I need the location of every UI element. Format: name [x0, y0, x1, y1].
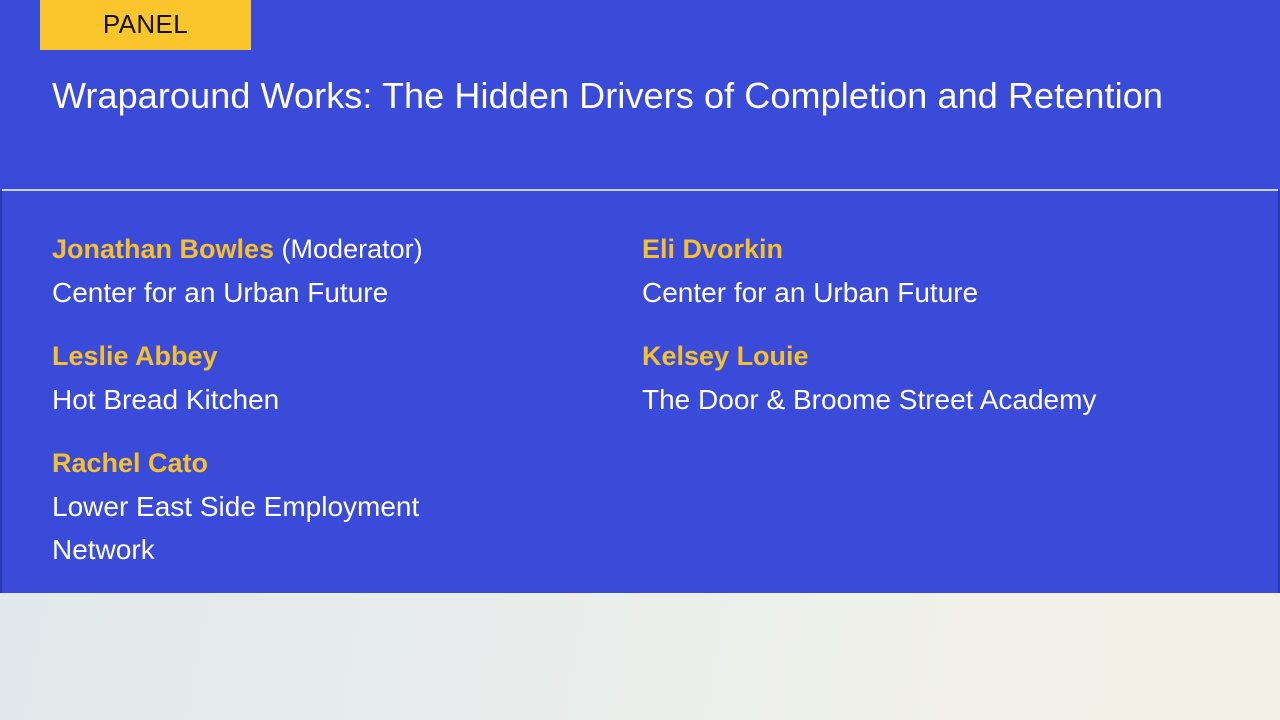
- speaker-card: Kelsey Louie The Door & Broome Street Ac…: [630, 334, 1240, 421]
- speaker-name-line: Jonathan Bowles (Moderator): [52, 227, 630, 271]
- speaker-name-line: Kelsey Louie: [642, 334, 1240, 378]
- speaker-name-line: Leslie Abbey: [52, 334, 630, 378]
- speaker-name: Leslie Abbey: [52, 341, 218, 371]
- page-title: Wraparound Works: The Hidden Drivers of …: [52, 70, 1182, 121]
- speaker-organization: Hot Bread Kitchen: [52, 378, 522, 421]
- speaker-card: Jonathan Bowles (Moderator) Center for a…: [40, 227, 630, 314]
- speaker-name-line: Eli Dvorkin: [642, 227, 1240, 271]
- speaker-list: Jonathan Bowles (Moderator) Center for a…: [0, 191, 1280, 593]
- speaker-name: Rachel Cato: [52, 448, 208, 478]
- session-type-badge: PANEL: [40, 0, 251, 50]
- slide-footer: NYC ETC 2025 Conference: [0, 593, 1280, 720]
- slide-header: PANEL Wraparound Works: The Hidden Drive…: [0, 0, 1280, 191]
- speaker-card: Rachel Cato Lower East Side Employment N…: [40, 441, 630, 571]
- speaker-card: Leslie Abbey Hot Bread Kitchen: [40, 334, 630, 421]
- speaker-name-line: Rachel Cato: [52, 441, 630, 485]
- speaker-name: Jonathan Bowles: [52, 234, 274, 264]
- speaker-name: Eli Dvorkin: [642, 234, 783, 264]
- session-type-badge-label: PANEL: [103, 11, 188, 37]
- speaker-name: Kelsey Louie: [642, 341, 809, 371]
- speaker-card: Eli Dvorkin Center for an Urban Future: [630, 227, 1240, 314]
- speaker-organization: Lower East Side Employment Network: [52, 485, 522, 571]
- speaker-grid-empty-cell: [630, 441, 1240, 591]
- speaker-grid: Jonathan Bowles (Moderator) Center for a…: [40, 227, 1240, 591]
- speaker-organization: The Door & Broome Street Academy: [642, 378, 1240, 421]
- speaker-organization: Center for an Urban Future: [642, 271, 1240, 314]
- speaker-organization: Center for an Urban Future: [52, 271, 522, 314]
- presentation-slide: PANEL Wraparound Works: The Hidden Drive…: [0, 0, 1280, 720]
- speaker-role: (Moderator): [274, 234, 423, 264]
